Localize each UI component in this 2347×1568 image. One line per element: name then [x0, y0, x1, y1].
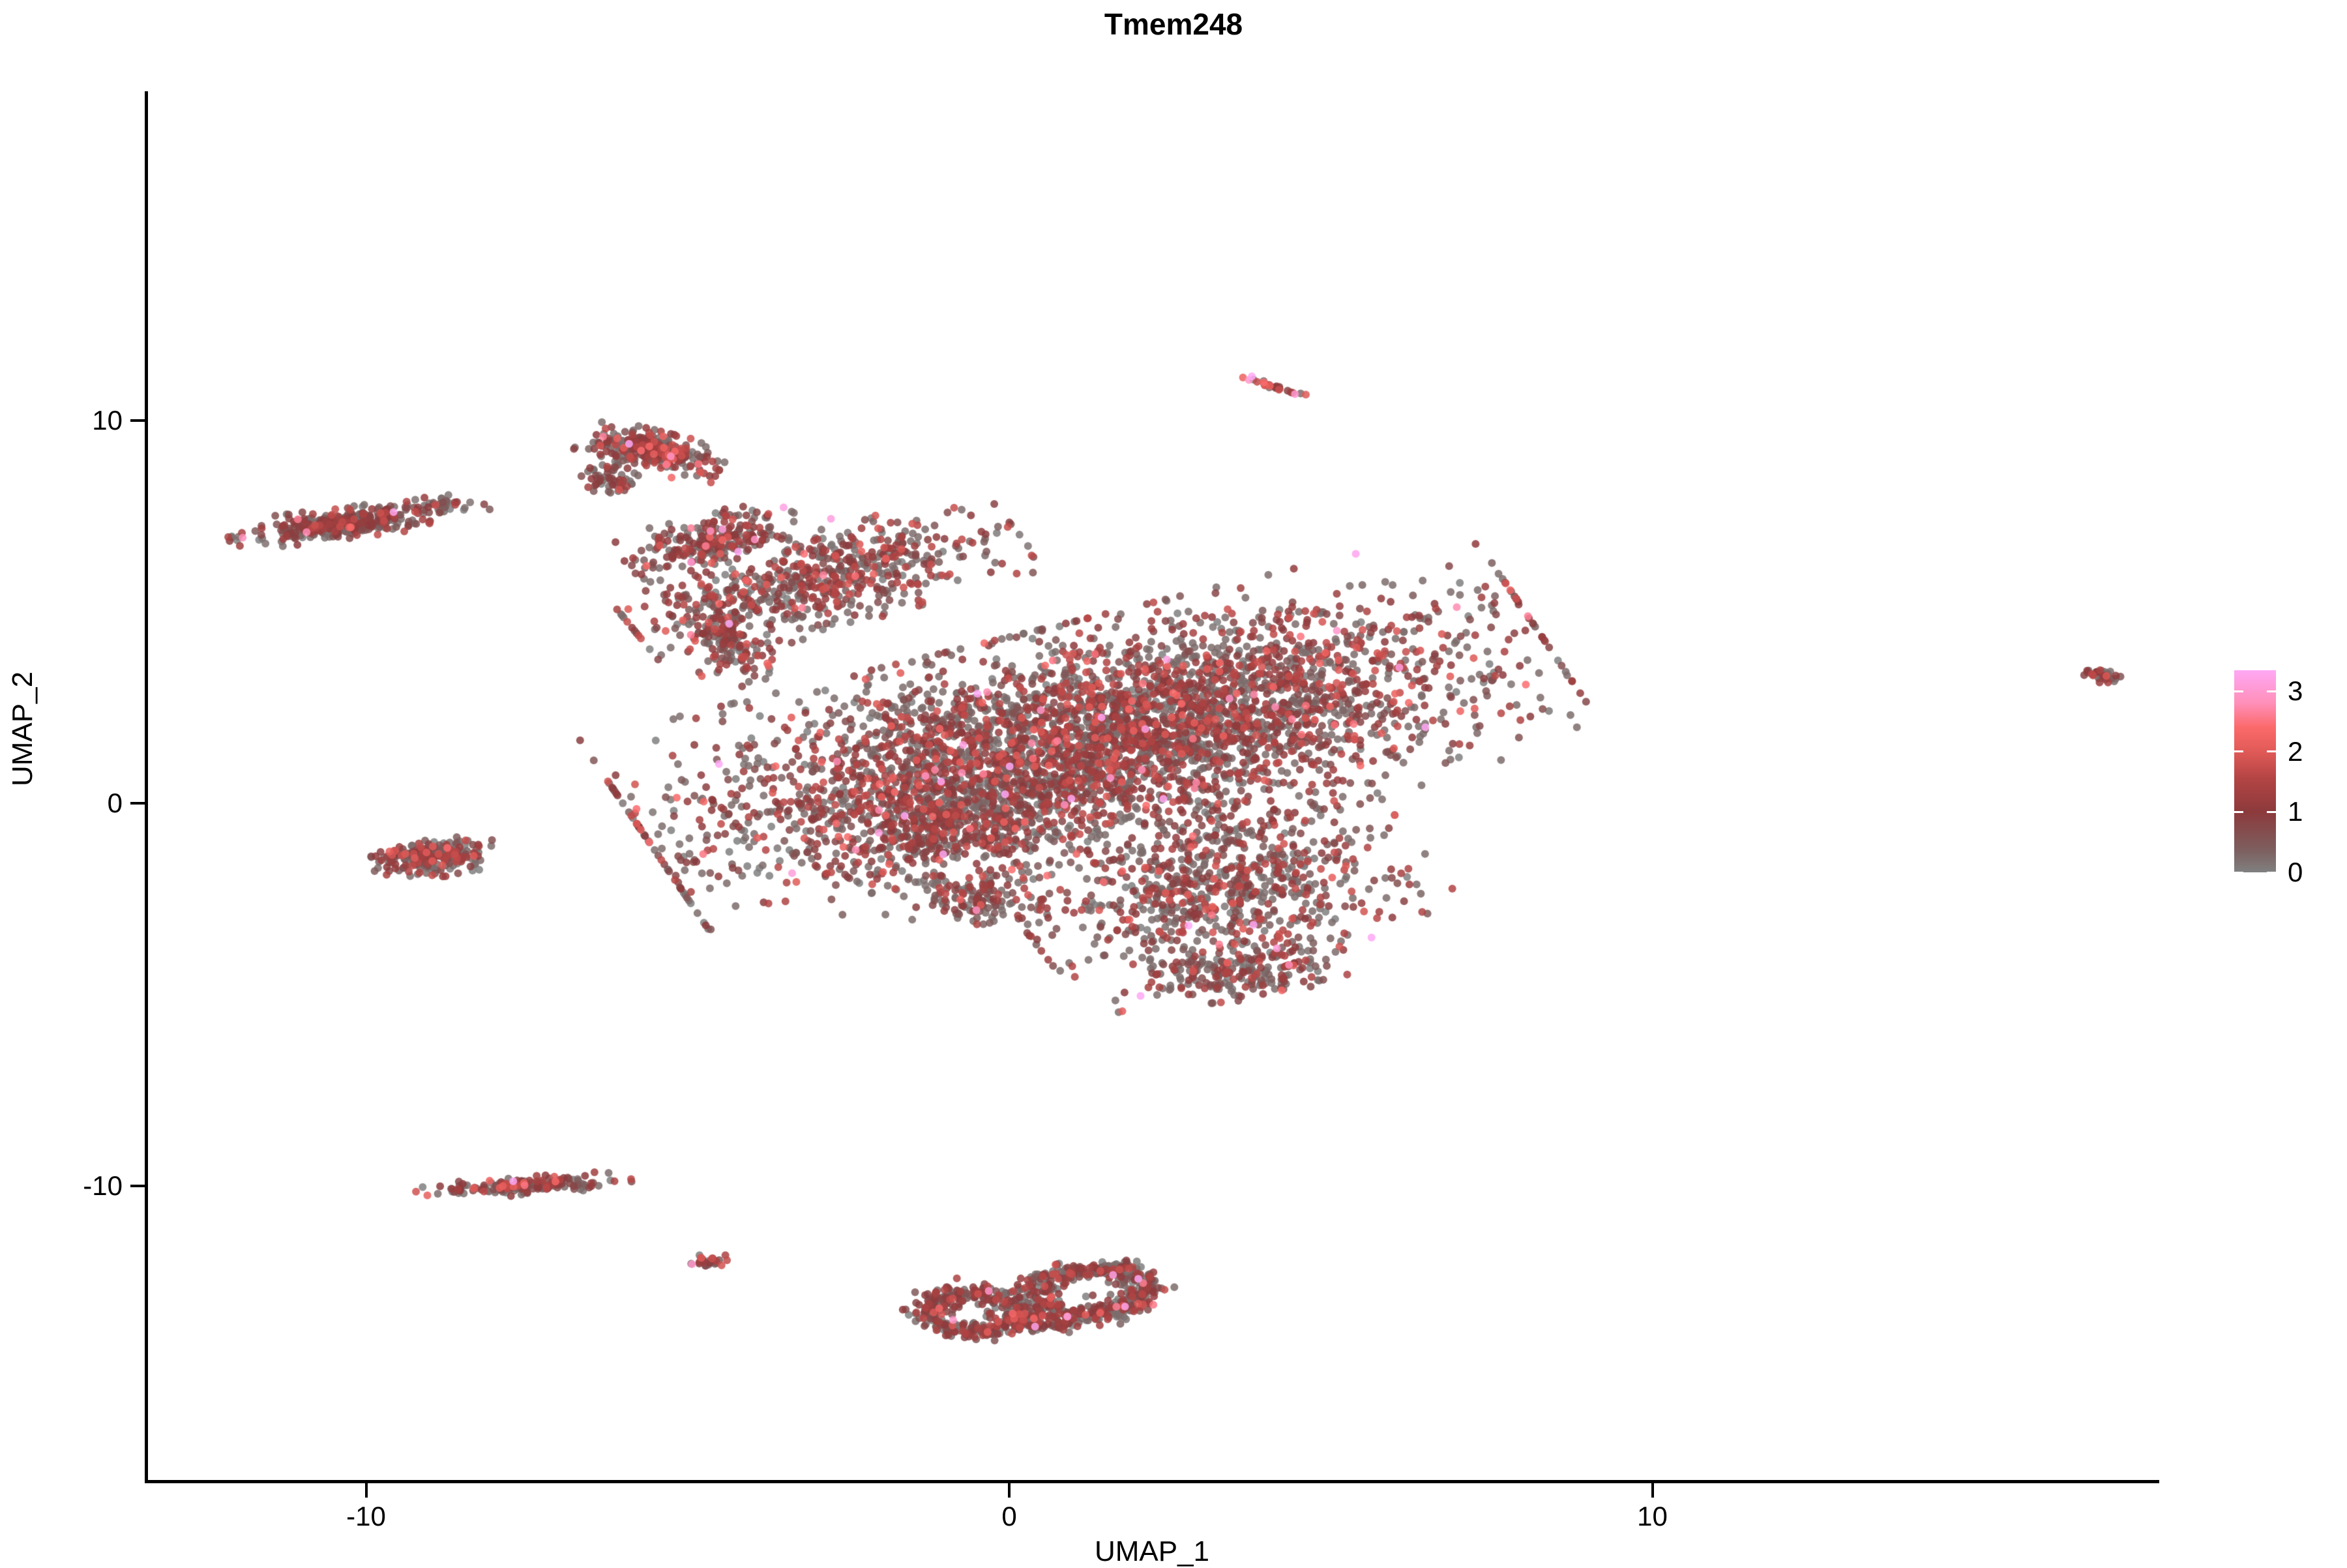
colorbar-tick-mark [2234, 750, 2243, 752]
y-tick-label: -10 [83, 1170, 123, 1202]
x-tick-label: -10 [346, 1501, 386, 1532]
colorbar-tick-mark [2234, 872, 2243, 874]
scatter-points-canvas [145, 91, 2159, 1481]
y-tick-mark [130, 419, 145, 422]
y-tick-label: 0 [108, 788, 123, 819]
x-tick-label: 10 [1637, 1501, 1668, 1532]
y-tick-mark [130, 802, 145, 805]
color-legend [2234, 670, 2276, 872]
colorbar-tick-mark [2267, 872, 2276, 874]
x-axis-line [145, 1480, 2159, 1483]
y-axis-title: UMAP_2 [7, 672, 39, 786]
x-tick-mark [1651, 1483, 1654, 1498]
feature-plot-root: Tmem248 -10010 100-10 UMAP_1 UMAP_2 3210 [0, 0, 2347, 1565]
x-tick-mark [365, 1483, 368, 1498]
colorbar-tick-label: 1 [2288, 796, 2303, 827]
colorbar-tick-label: 3 [2288, 675, 2303, 707]
colorbar-tick-label: 2 [2288, 736, 2303, 767]
y-tick-mark [130, 1185, 145, 1187]
page-title: Tmem248 [0, 7, 2347, 42]
x-tick-label: 0 [1001, 1501, 1016, 1532]
x-tick-mark [1008, 1483, 1011, 1498]
plot-panel [145, 91, 2159, 1481]
colorbar-tick-mark [2267, 690, 2276, 692]
colorbar-tick-mark [2234, 811, 2243, 813]
colorbar-tick-mark [2234, 690, 2243, 692]
colorbar-gradient [2234, 670, 2276, 872]
y-axis-line [145, 91, 148, 1483]
colorbar-tick-mark [2267, 811, 2276, 813]
x-axis-title: UMAP_1 [145, 1535, 2159, 1568]
y-tick-label: 10 [92, 405, 123, 436]
colorbar-tick-label: 0 [2288, 857, 2303, 888]
colorbar-tick-mark [2267, 750, 2276, 752]
